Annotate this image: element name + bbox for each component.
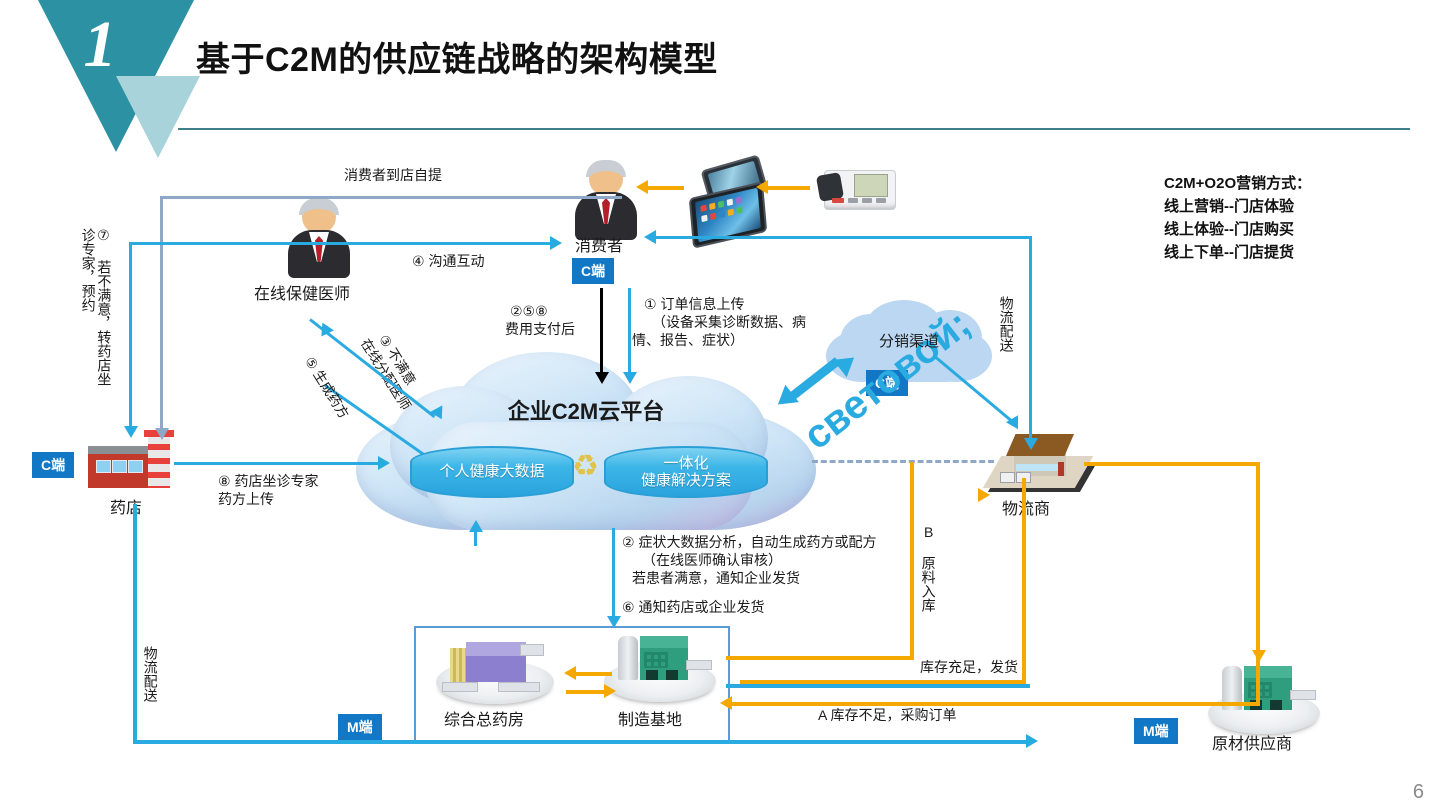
- logistics-warehouse-icon: [992, 434, 1084, 490]
- mfg-box-right-line: [726, 684, 1030, 688]
- device-flow-arrow-left: [646, 186, 684, 190]
- db-health-solution-line1: 一体化: [663, 455, 708, 472]
- pharmacy-hub-icon: [436, 638, 554, 694]
- step5-label: ⑤ 生成药方: [301, 352, 355, 422]
- step1-label-line3: 情、报告、症状）: [632, 331, 744, 350]
- step1-label-line2: （设备采集诊断数据、病: [652, 313, 806, 332]
- device-arrowhead-1: [756, 180, 768, 194]
- step2-label-line3: 若患者满意，通知企业发货: [632, 569, 800, 588]
- logistics-right-rail-horizontal: [648, 236, 1032, 239]
- step4-line: [348, 242, 552, 245]
- page-number: 6: [1413, 781, 1424, 804]
- manufacturing-icon: [604, 632, 716, 692]
- pickup-rail-horizontal: [160, 196, 622, 199]
- slide-canvas: 1 基于C2M的供应链战略的架构模型 C2M+O2O营销方式： 线上营销--门店…: [0, 0, 1440, 810]
- step1-arrowhead: [623, 372, 637, 384]
- pharmacy-badge-c: C端: [32, 452, 74, 478]
- payment-label-line1: ②⑤⑧: [510, 302, 548, 321]
- mfg-internal-arrow-left: [574, 672, 612, 676]
- raw-material-label: B 原料入库: [920, 524, 936, 628]
- legend-line-3: 线上下单--门店提货: [1164, 241, 1311, 262]
- step7-rail-vertical: [129, 242, 132, 432]
- step8-label-line1: ⑧ 药店坐诊专家: [218, 472, 318, 491]
- stock-low-line: [730, 702, 1260, 706]
- doctor-label: 在线保健医师: [254, 280, 350, 304]
- step2-label-line1: ② 症状大数据分析，自动生成药方或配方: [622, 533, 876, 552]
- logistics-delivery-left-label: 物流配送: [142, 646, 158, 734]
- payment-label-line2: 费用支付后: [505, 320, 575, 339]
- step7-arrowhead: [124, 426, 138, 438]
- step4-arrowhead: [550, 236, 562, 250]
- cloud-platform-title: 企业C2M云平台: [356, 394, 816, 426]
- payment-line: [600, 288, 603, 376]
- logistics-left-vertical: [133, 504, 137, 744]
- header-triangle-small: [116, 76, 200, 158]
- step2-6-line: [612, 528, 615, 622]
- stock-ok-vertical: [1022, 478, 1026, 684]
- blood-pressure-monitor-icon: [824, 160, 894, 208]
- pickup-arrowhead: [155, 428, 169, 440]
- mfg-arrowhead-left: [564, 666, 576, 680]
- raw-material-horizontal: [726, 656, 914, 660]
- header-divider: [178, 128, 1410, 130]
- consumer-avatar: [575, 162, 637, 240]
- stock-ok-label: 库存充足，发货: [920, 658, 1018, 677]
- pharmacy-hub-label: 综合总药房: [444, 706, 524, 730]
- logistics-left-arrowhead: [1026, 734, 1038, 748]
- raw-material-vertical: [910, 462, 914, 660]
- consumer-inbound-arrowhead: [644, 230, 656, 244]
- step8-label-line2: 药方上传: [218, 490, 274, 509]
- manufacturing-label: 制造基地: [618, 706, 682, 730]
- cloud-warehouse-dashed-line: [812, 460, 994, 463]
- payment-arrowhead: [595, 372, 609, 384]
- recycle-icon: ♻: [572, 452, 599, 482]
- supplier-down-line: [1256, 462, 1260, 704]
- pharmacy-label: 药店: [110, 494, 142, 518]
- doctor-avatar: [288, 200, 350, 278]
- step1-label-line1: ① 订单信息上传: [644, 295, 744, 314]
- db-personal-health: 个人健康大数据: [410, 446, 574, 498]
- stock-ok-arrowhead: [978, 488, 990, 502]
- logistics-right-arrowhead: [1024, 438, 1038, 450]
- supplier-label: 原材供应商: [1212, 730, 1292, 754]
- logistics-right-rail-vertical: [1029, 236, 1032, 444]
- logistics-left-horizontal: [133, 740, 1031, 744]
- supplier-badge-m: M端: [1134, 718, 1178, 744]
- legend-block: C2M+O2O营销方式： 线上营销--门店体验 线上体验--门店购买 线上下单-…: [1164, 172, 1311, 262]
- db-personal-health-label: 个人健康大数据: [439, 463, 544, 480]
- step6-label: ⑥ 通知药店或企业发货: [622, 598, 764, 617]
- mfg-internal-arrow-right: [566, 690, 604, 694]
- consumer-badge-c: C端: [572, 258, 614, 284]
- avatar-head: [302, 200, 336, 234]
- mfg-arrowhead-right: [604, 684, 616, 698]
- supplier-inbound-arrowhead: [1252, 650, 1266, 662]
- db-health-solution-line2: 健康解决方案: [641, 472, 731, 489]
- avatar-head: [589, 162, 623, 196]
- pickup-rail-vertical: [160, 196, 163, 434]
- device-flow-arrow-right: [766, 186, 810, 190]
- c2m-cloud-platform: 企业C2M云平台 个人健康大数据 一体化 健康解决方案 ♻: [356, 352, 816, 530]
- device-arrowhead-2: [636, 180, 648, 194]
- distribution-channel-label: 分销渠道: [826, 330, 992, 351]
- logistics-label: 物流商: [1002, 495, 1050, 519]
- consumer-label: 消费者: [575, 232, 623, 256]
- cloud-upward-line: [474, 528, 477, 546]
- step2-6-arrowhead: [607, 616, 621, 628]
- db-health-solution: 一体化 健康解决方案: [604, 446, 768, 498]
- step8-arrowhead: [378, 456, 390, 470]
- pickup-label: 消费者到店自提: [344, 166, 442, 185]
- legend-line-1: 线上营销--门店体验: [1164, 195, 1311, 216]
- stock-low-label: A 库存不足，采购订单: [818, 706, 956, 725]
- mfg-badge-m: M端: [338, 714, 382, 740]
- supplier-icon: [1208, 662, 1320, 722]
- step2-label-line2: （在线医师确认审核）: [642, 551, 782, 570]
- legend-line-2: 线上体验--门店购买: [1164, 218, 1311, 239]
- step4-label: ④ 沟通互动: [412, 252, 484, 271]
- legend-title: C2M+O2O营销方式：: [1164, 172, 1311, 193]
- logistics-delivery-right-label: 物流配送: [998, 296, 1014, 380]
- step8-line: [174, 462, 382, 465]
- slide-number-badge: 1: [60, 12, 140, 78]
- step7-label: ⑦ 若不满意，转药店坐诊专家，预约: [80, 228, 111, 396]
- stock-low-arrowhead: [720, 696, 732, 710]
- supplier-top-line: [1084, 462, 1260, 466]
- step1-line: [628, 288, 631, 376]
- page-title: 基于C2M的供应链战略的架构模型: [196, 32, 718, 81]
